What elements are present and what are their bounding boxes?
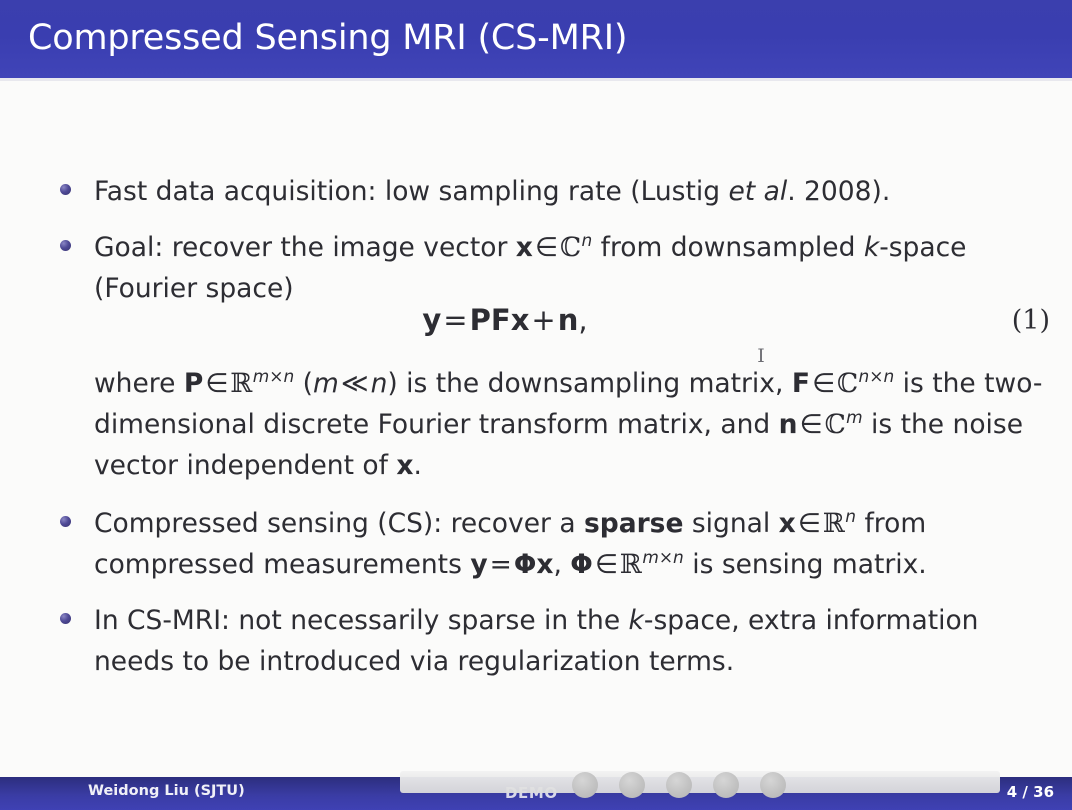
complex-set-symbol: ℂ xyxy=(825,409,847,440)
bullet-3-seg1: recover a xyxy=(442,508,584,539)
complex-set-symbol: ℂ xyxy=(560,232,582,263)
equation-number: (1) xyxy=(1012,305,1050,336)
bullet-3-seg4: is sensing matrix. xyxy=(684,549,927,580)
complex-set-symbol: ℂ xyxy=(837,368,859,399)
equation-x: x xyxy=(511,303,530,337)
bullet-1-tail: . 2008). xyxy=(787,176,890,207)
plus-sign: + xyxy=(529,303,557,337)
n-symbol: n xyxy=(371,368,388,399)
element-of-symbol: ∈ xyxy=(798,409,825,440)
bullet-fast-data-acquisition: Fast data acquisition: low sampling rate… xyxy=(60,171,1020,212)
where-w6: . xyxy=(413,450,421,481)
footer-author: Weidong Liu (SJTU) xyxy=(88,783,245,799)
real-set-symbol: ℝ xyxy=(620,549,642,580)
text-cursor-icon: I xyxy=(755,345,767,367)
bullet-2-lead: Goal: xyxy=(94,232,163,263)
exponent-n: n xyxy=(581,230,592,250)
equals-sign: = xyxy=(441,303,469,337)
bullet-1-lead: Fast data acquisition: xyxy=(94,176,376,207)
vector-y-symbol: y xyxy=(470,549,487,580)
vector-x-symbol: x xyxy=(516,232,533,263)
bullet-compressed-sensing: Compressed sensing (CS): recover a spars… xyxy=(60,503,1020,585)
vector-x-symbol: x xyxy=(536,549,553,580)
element-of-symbol: ∈ xyxy=(796,508,823,539)
bullet-3-seg2: signal xyxy=(683,508,778,539)
bullet-1-mid: low sampling rate (Lustig xyxy=(376,176,728,207)
real-set-symbol: ℝ xyxy=(823,508,845,539)
bullet-goal-recover: Goal: recover the image vector x∈ℂn from… xyxy=(60,227,1050,309)
phi-matrix-symbol: Φ xyxy=(570,549,593,580)
equals-sign: = xyxy=(488,549,514,580)
equation-n: n xyxy=(558,303,579,337)
exponent-m-by-n: m×n xyxy=(642,547,683,567)
phi-matrix-symbol: Φ xyxy=(514,549,537,580)
bullet-2-text: Goal: recover the image vector x∈ℂn from… xyxy=(94,227,1050,309)
matrix-P-symbol: P xyxy=(184,368,203,399)
bullet-2-seg3: -space xyxy=(879,232,966,263)
real-set-symbol: ℝ xyxy=(230,368,252,399)
bullet-2-line2: (Fourier space) xyxy=(94,273,294,304)
vector-x-symbol: x xyxy=(396,450,413,481)
exponent-m-by-n: m×n xyxy=(253,366,294,386)
nav-dot-5[interactable] xyxy=(760,772,786,798)
k-symbol: k xyxy=(629,605,644,636)
bullet-4-seg1: not necessarily sparse in the xyxy=(230,605,629,636)
element-of-symbol: ∈ xyxy=(533,232,560,263)
m-symbol: m xyxy=(313,368,339,399)
bullet-4-text: In CS-MRI: not necessarily sparse in the… xyxy=(94,600,1030,682)
nav-dot-4[interactable] xyxy=(713,772,739,798)
equation-comma: , xyxy=(578,303,587,337)
bullet-dot-icon xyxy=(60,613,71,624)
element-of-symbol: ∈ xyxy=(593,549,620,580)
where-paragraph: where P∈ℝm×n (m≪n) is the downsampling m… xyxy=(94,363,1044,486)
bullet-cs-mri-sparsity: In CS-MRI: not necessarily sparse in the… xyxy=(60,600,1030,682)
equation-PF: PF xyxy=(470,303,511,337)
exponent-n: n xyxy=(845,506,856,526)
navigation-dots[interactable] xyxy=(572,772,792,798)
where-w2: ( xyxy=(294,368,313,399)
bullet-1-etal: et al xyxy=(728,176,787,207)
bullet-4-lead: In CS-MRI: xyxy=(94,605,230,636)
bullet-dot-icon xyxy=(60,516,71,527)
footer-page-number: 4 / 36 xyxy=(1007,783,1054,801)
bullet-1-text: Fast data acquisition: low sampling rate… xyxy=(94,171,1020,212)
bullet-2-seg2: from downsampled xyxy=(592,232,864,263)
nav-dot-1[interactable] xyxy=(572,772,598,798)
k-symbol: k xyxy=(864,232,879,263)
bullet-2-seg1: recover the image vector xyxy=(163,232,515,263)
vector-n-symbol: n xyxy=(779,409,798,440)
bullet-3-comma: , xyxy=(553,549,570,580)
equation-display: y=PFx+n, xyxy=(0,303,1010,337)
exponent-n-by-n: n×n xyxy=(859,366,895,386)
bullet-3-lead: Compressed sensing (CS): xyxy=(94,508,442,539)
vector-x-symbol: x xyxy=(779,508,796,539)
bullet-dot-icon xyxy=(60,184,71,195)
element-of-symbol: ∈ xyxy=(810,368,837,399)
slide-title: Compressed Sensing MRI (CS-MRI) xyxy=(28,18,627,58)
where-w1: where xyxy=(94,368,184,399)
element-of-symbol: ∈ xyxy=(203,368,230,399)
matrix-F-symbol: F xyxy=(792,368,810,399)
bullet-dot-icon xyxy=(60,240,71,251)
nav-dot-2[interactable] xyxy=(619,772,645,798)
presentation-slide: Compressed Sensing MRI (CS-MRI) Fast dat… xyxy=(0,0,1072,810)
nav-dot-3[interactable] xyxy=(666,772,692,798)
sparse-emphasis: sparse xyxy=(584,508,683,539)
slide-title-bar: Compressed Sensing MRI (CS-MRI) xyxy=(0,0,1072,78)
much-less-than-symbol: ≪ xyxy=(339,368,371,399)
bullet-3-text: Compressed sensing (CS): recover a spars… xyxy=(94,503,1020,585)
exponent-m: m xyxy=(846,407,863,427)
equation-y: y xyxy=(422,303,441,337)
slide-body: Fast data acquisition: low sampling rate… xyxy=(0,81,1072,771)
where-w3: ) is the downsampling matrix, xyxy=(387,368,791,399)
